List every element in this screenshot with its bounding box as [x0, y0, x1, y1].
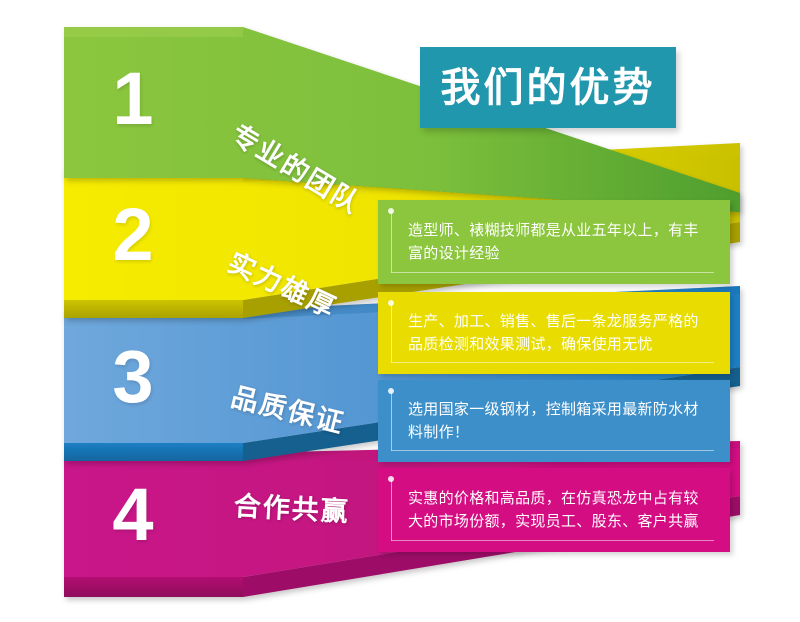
bracket-bottom-line — [391, 272, 714, 273]
bracket-bottom-line — [391, 450, 714, 451]
bracket-decoration — [391, 391, 402, 451]
band-1-top-highlight — [64, 27, 243, 37]
bracket-bottom-line — [391, 540, 714, 541]
content-box-2: 生产、加工、销售、售后一条龙服务严格的品质检测和效果测试，确保使用无忧 — [378, 292, 730, 374]
bracket-bottom-line — [391, 362, 714, 363]
band-4-side — [64, 577, 243, 597]
title-banner: 我们的优势 — [420, 47, 676, 128]
bracket-decoration — [391, 479, 402, 541]
band-2-side — [64, 300, 243, 318]
content-text-4: 实惠的价格和高品质，在仿真恐龙中占有较大的市场份额，实现员工、股东、客户共赢 — [408, 487, 712, 534]
bracket-decoration — [391, 303, 402, 363]
band-3-side — [64, 443, 243, 461]
content-text-1: 造型师、裱糊技师都是从业五年以上，有丰富的设计经验 — [408, 219, 712, 266]
infographic-canvas: 我们的优势 1 2 3 4 专业的团队 实力雄厚 品质保证 合作共赢 造型师、裱… — [0, 0, 800, 622]
content-box-4: 实惠的价格和高品质，在仿真恐龙中占有较大的市场份额，实现员工、股东、客户共赢 — [378, 468, 730, 552]
content-text-2: 生产、加工、销售、售后一条龙服务严格的品质检测和效果测试，确保使用无忧 — [408, 310, 712, 357]
bracket-decoration — [391, 211, 402, 273]
content-box-1: 造型师、裱糊技师都是从业五年以上，有丰富的设计经验 — [378, 200, 730, 284]
page-title: 我们的优势 — [441, 68, 656, 108]
content-text-3: 选用国家一级钢材，控制箱采用最新防水材料制作！ — [408, 398, 712, 445]
content-box-3: 选用国家一级钢材，控制箱采用最新防水材料制作！ — [378, 380, 730, 462]
